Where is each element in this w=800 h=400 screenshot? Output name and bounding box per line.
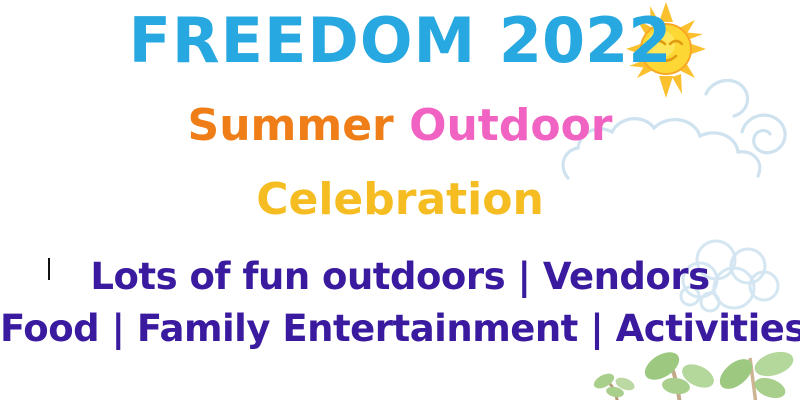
flyer-title: FREEDOM 2022 [0,10,800,72]
flyer-detail-line-1: Lots of fun outdoors | Vendors [0,258,800,295]
flyer-detail-line-2: Food | Family Entertainment | Activities [0,310,800,347]
flyer-canvas: FREEDOM 2022 Summer Outdoor Celebration … [0,0,800,400]
flyer-celebration-text: Celebration [0,178,800,222]
title-year: 2022 [499,4,672,77]
subtitle-word-summer: Summer [188,100,394,151]
text-layer: FREEDOM 2022 Summer Outdoor Celebration … [0,0,800,400]
flyer-subtitle: Summer Outdoor [0,104,800,148]
title-word: FREEDOM [129,4,477,77]
subtitle-word-outdoor: Outdoor [409,100,612,151]
text-cursor [48,258,50,280]
